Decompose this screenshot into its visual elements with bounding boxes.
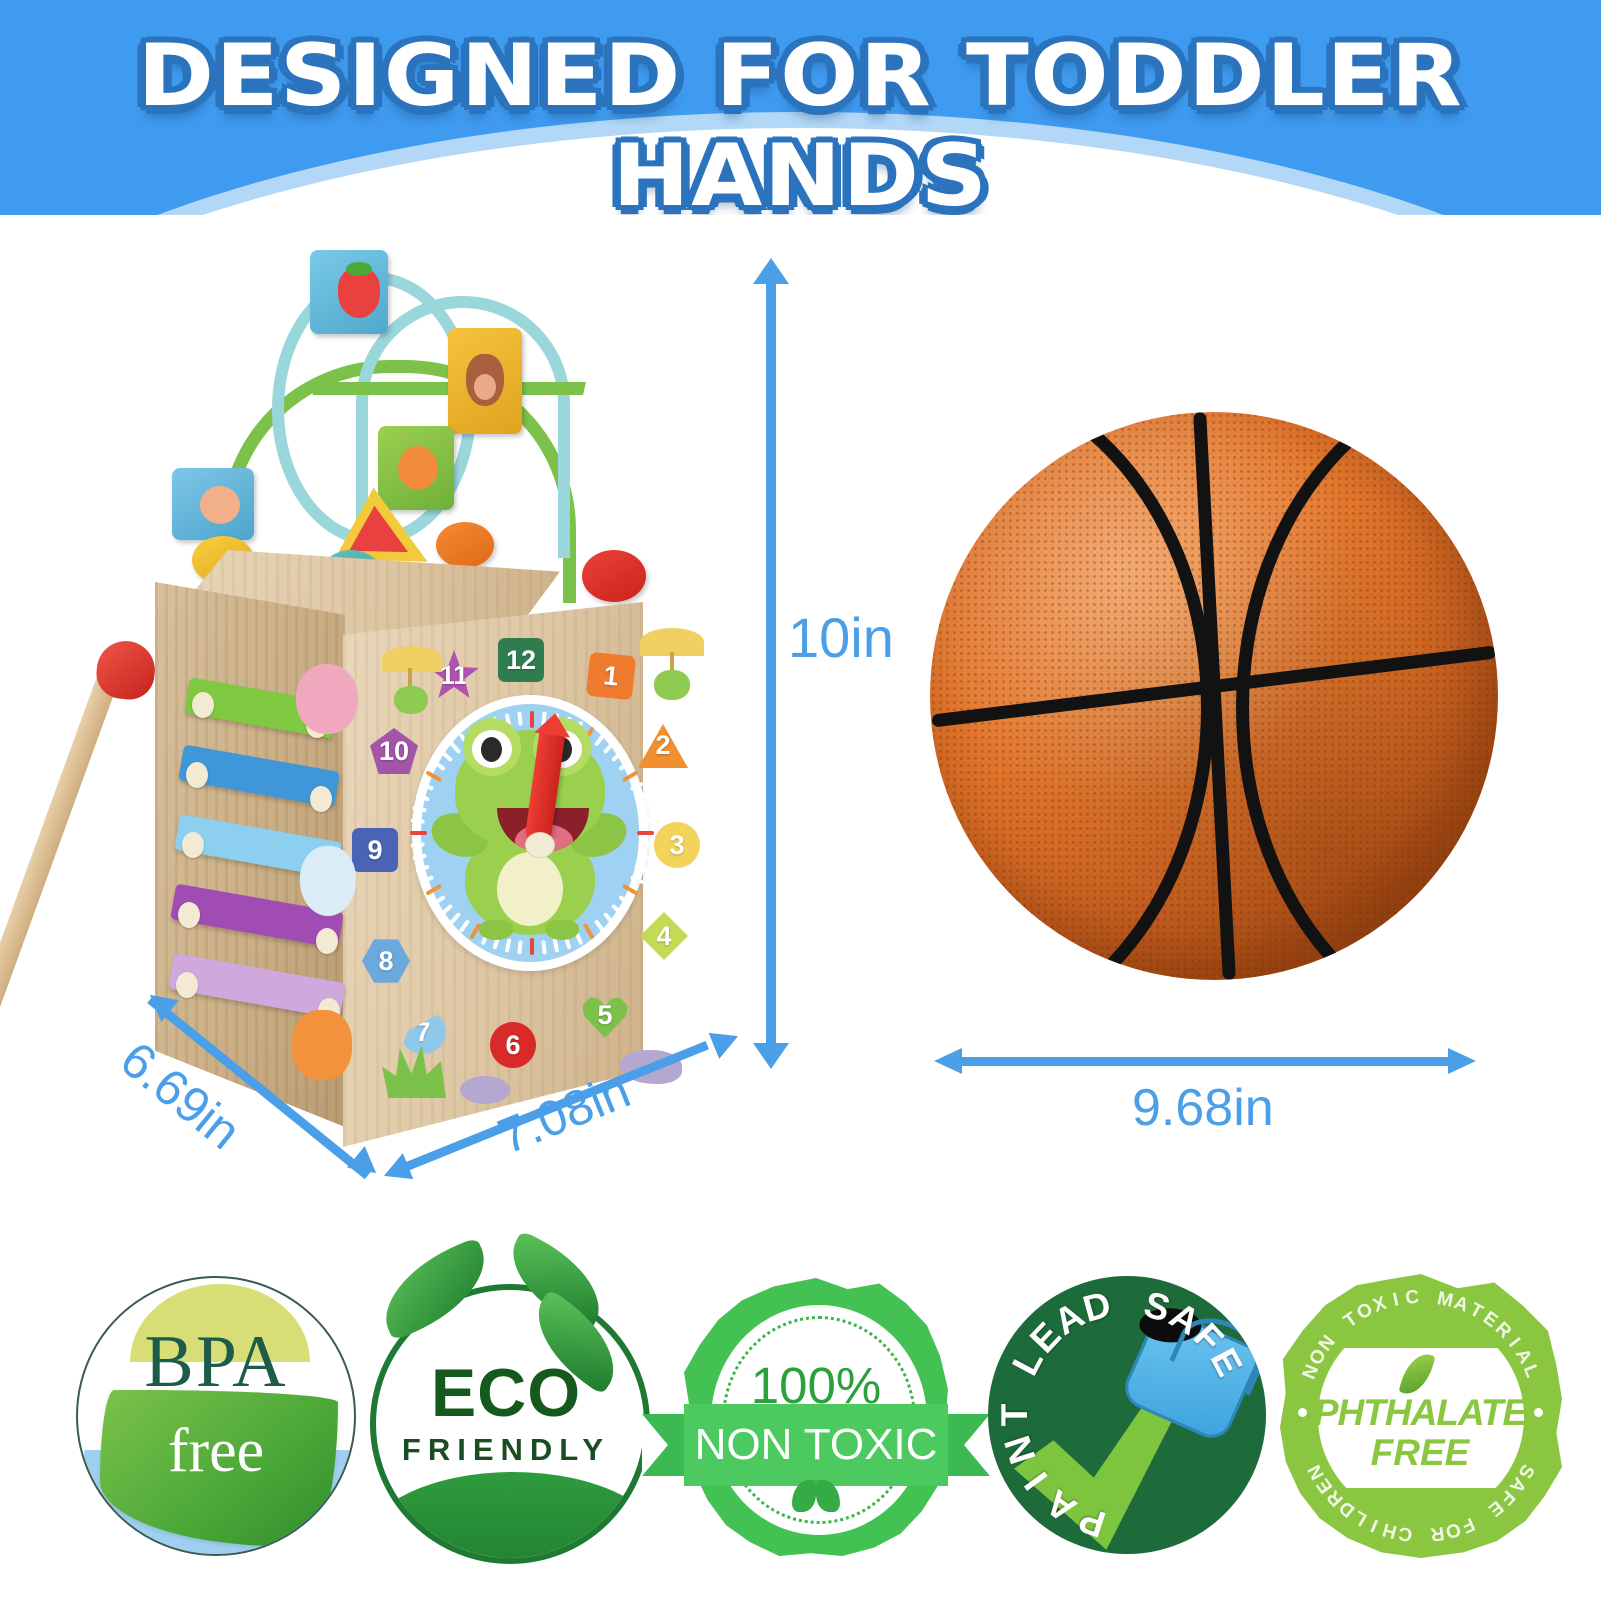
tiger-motif	[292, 1010, 352, 1080]
dimension-label-ball: 9.68in	[1132, 1078, 1274, 1138]
xylophone-peg	[186, 762, 208, 788]
dimension-arrowhead-top	[753, 258, 789, 284]
eco-bottom-fill	[370, 1472, 650, 1564]
bead-round-orange	[436, 522, 494, 568]
product-image-basketball	[930, 412, 1498, 980]
clock-tick	[634, 793, 649, 801]
non-toxic-ribbon: NON TOXIC	[642, 1414, 990, 1476]
clock-number-2: 2	[638, 722, 688, 768]
clock-tick	[412, 853, 427, 860]
clock-tick	[412, 806, 427, 813]
bead-hedgehog-motif	[200, 486, 240, 524]
bpa-label: BPA	[66, 1320, 366, 1405]
badge-phthalate-free: PHTHALATE FREE NON TOXIC MATERIAL SAFE F…	[1270, 1266, 1570, 1566]
clock-tick	[639, 818, 653, 823]
bead-maze	[160, 250, 720, 580]
clock-tick	[622, 770, 639, 782]
bead-tiger-motif	[398, 446, 438, 490]
clock-tick	[410, 818, 424, 823]
monkey-motif	[296, 664, 358, 734]
clock-number-4: 4	[640, 912, 688, 960]
dimension-arrowhead-bottom	[753, 1043, 789, 1069]
non-toxic-label: NON TOXIC	[684, 1404, 948, 1486]
page-title: DESIGNED FOR TODDLER HANDS	[0, 26, 1601, 215]
xylophone-peg	[182, 832, 204, 858]
badge-lead-safe-paint: LEAD SAFEPAINT LEAD SAFE PAINT	[976, 1266, 1276, 1566]
arc-letter: I	[1391, 1289, 1402, 1312]
xylophone-peg	[316, 928, 338, 954]
frog-pupil	[481, 737, 502, 762]
badge-eco-friendly: ECO FRIENDLY	[356, 1266, 656, 1566]
clock-tick	[420, 875, 434, 884]
umbrella-frog-motif	[378, 646, 444, 718]
clock-face	[412, 695, 648, 971]
arc-letter: I	[1367, 1513, 1381, 1536]
clock-number-12: 12	[498, 638, 544, 682]
clock-tick	[410, 831, 427, 835]
xylophone-peg	[178, 902, 200, 928]
lead-safe-disc: LEAD SAFEPAINT	[988, 1276, 1266, 1554]
clock-number-3: 3	[654, 822, 700, 868]
eco-label: ECO	[356, 1354, 656, 1432]
clock-tick	[622, 884, 639, 896]
dimension-arrow-height	[766, 275, 776, 1045]
badge-non-toxic: 100% NON TOXIC	[666, 1266, 966, 1566]
clock-number-6: 6	[490, 1022, 536, 1068]
arc-letter: C	[1396, 1521, 1414, 1545]
clock-tick	[415, 793, 430, 801]
badge-bpa-free: BPA free	[66, 1266, 366, 1566]
clock-tick	[517, 940, 522, 954]
non-toxic-leaf-icon	[792, 1480, 840, 1512]
bpa-free-label: free	[66, 1416, 366, 1487]
frog-belly	[497, 852, 563, 926]
clock-tick	[639, 842, 653, 847]
header-banner: DESIGNED FOR TODDLER HANDS	[0, 0, 1601, 215]
clock-tick	[637, 853, 652, 860]
umbrella-frog-motif	[636, 628, 708, 704]
bead-round-red	[582, 550, 646, 602]
clock-center-pin	[525, 832, 555, 858]
bead-strawberry-leaf	[346, 262, 372, 276]
frog-eye-left	[463, 718, 521, 776]
xylophone-peg	[176, 972, 198, 998]
clock-tick	[637, 806, 652, 813]
clock-number-9: 9	[352, 828, 398, 872]
dimension-arrowhead-ball-right	[1448, 1048, 1476, 1074]
arc-letter: R	[1428, 1521, 1446, 1545]
dimension-label-height: 10in	[788, 605, 894, 670]
phthalate-arc-text: NON TOXIC MATERIALSAFE FOR CHILDREN	[1280, 1274, 1562, 1558]
certification-badge-row: BPA free ECO FRIENDLY 100% NON TOXIC L	[0, 1258, 1601, 1588]
clock-tick	[410, 842, 424, 847]
clock-number-1: 1	[586, 652, 636, 701]
bead-bear-belly	[474, 374, 496, 400]
rock-motif	[460, 1076, 510, 1104]
clock-tick	[420, 782, 434, 791]
clock-tick	[637, 831, 654, 835]
clock-tick	[634, 864, 649, 872]
clock-tick	[415, 864, 430, 872]
eco-friendly-label: FRIENDLY	[356, 1432, 656, 1468]
mallet-handle	[0, 666, 121, 1106]
frog-eye-white	[472, 730, 512, 768]
arc-letter: C	[1405, 1287, 1421, 1310]
xylophone-peg	[192, 692, 214, 718]
xylophone-peg	[310, 786, 332, 812]
arc-letter: T	[994, 1404, 1036, 1427]
frog-foot-left	[479, 920, 513, 940]
frog-foot-right	[545, 920, 579, 940]
clock-tick	[541, 940, 546, 954]
mallet-head	[94, 638, 158, 702]
dimension-arrowhead-ball-left	[934, 1048, 962, 1074]
dimension-arrow-ball	[960, 1057, 1450, 1066]
rabbit-motif	[300, 846, 356, 916]
